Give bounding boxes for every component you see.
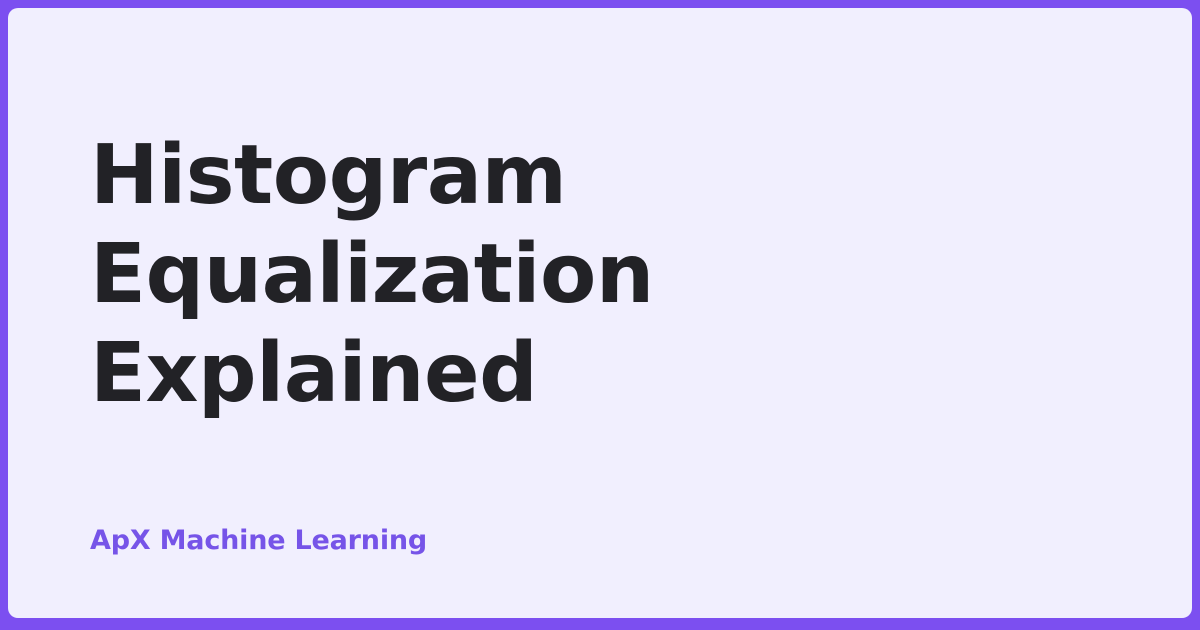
card-surface: Histogram Equalization Explained ApX Mac… [8,8,1192,618]
page-title: Histogram Equalization Explained [90,126,1050,423]
card-footer: ApX Machine Learning [90,524,1120,558]
brand-name: ApX Machine Learning [90,524,427,558]
headline-block: Histogram Equalization Explained [90,126,1120,423]
social-share-card: Histogram Equalization Explained ApX Mac… [0,0,1200,630]
